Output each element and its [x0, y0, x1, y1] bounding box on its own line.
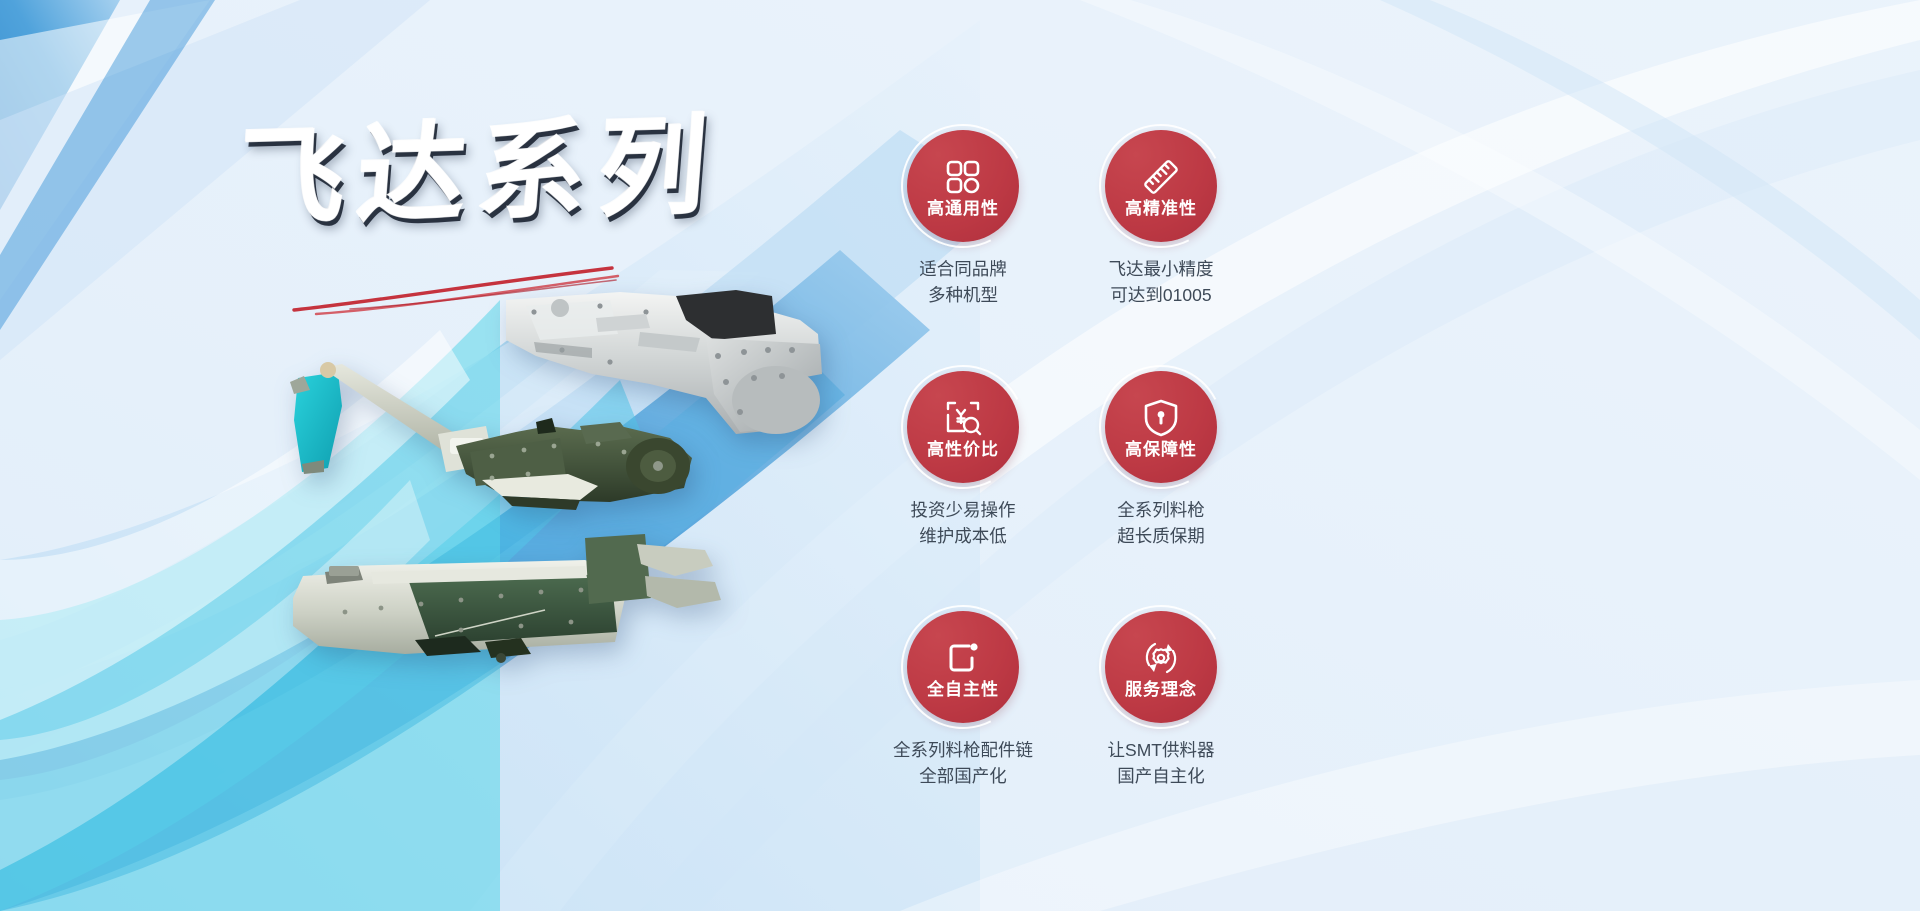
feature-badge[interactable]: 高通用性 — [907, 130, 1019, 242]
feature-caption-line2: 维护成本低 — [911, 523, 1016, 549]
swoosh-topleft-1 — [0, 0, 120, 210]
feature-caption-line2: 超长质保期 — [1117, 523, 1205, 549]
feature-caption: 全系列料枪配件链 全部国产化 — [893, 737, 1033, 790]
feature-caption-line1: 适合同品牌 — [919, 256, 1007, 282]
feature-caption: 适合同品牌 多种机型 — [919, 256, 1007, 309]
feature-caption: 让SMT供料器 国产自主化 — [1108, 737, 1215, 790]
feature-badge[interactable]: 高保障性 — [1105, 371, 1217, 483]
shield-lock-icon — [1141, 398, 1181, 438]
gear-refresh-icon — [1141, 638, 1181, 678]
feature-badge-label: 高通用性 — [927, 200, 999, 219]
feature-item-service[interactable]: 服务理念 让SMT供料器 国产自主化 — [1070, 611, 1252, 790]
feature-item-autonomy[interactable]: 全自主性 全系列料枪配件链 全部国产化 — [872, 611, 1054, 790]
feature-caption-line2: 多种机型 — [919, 282, 1007, 308]
feature-caption-line1: 飞达最小精度 — [1109, 256, 1214, 282]
feature-badge-label: 高性价比 — [927, 441, 999, 460]
product-photo-feeder-green — [280, 360, 700, 520]
feature-caption-line2: 国产自主化 — [1108, 763, 1215, 789]
feature-badge[interactable]: 服务理念 — [1105, 611, 1217, 723]
feature-caption-line2: 全部国产化 — [893, 763, 1033, 789]
feature-caption: 飞达最小精度 可达到01005 — [1109, 256, 1214, 309]
yen-search-icon — [943, 398, 983, 438]
grid-four-icon — [943, 157, 983, 197]
feeder-green-icon — [280, 360, 700, 520]
feature-badge-label: 高精准性 — [1125, 200, 1197, 219]
feature-caption-line1: 投资少易操作 — [911, 497, 1016, 523]
feature-caption-line1: 全系列料枪 — [1117, 497, 1205, 523]
feature-caption-line1: 全系列料枪配件链 — [893, 737, 1033, 763]
promo-banner: 飞达系列 — [0, 0, 1920, 911]
feature-badge-label: 高保障性 — [1125, 441, 1197, 460]
feature-badge[interactable]: 全自主性 — [907, 611, 1019, 723]
feature-item-warranty[interactable]: 高保障性 全系列料枪 超长质保期 — [1070, 371, 1252, 550]
feature-caption: 全系列料枪 超长质保期 — [1117, 497, 1205, 550]
product-photo-feeder-long — [285, 520, 725, 670]
feature-item-precision[interactable]: 高精准性 飞达最小精度 可达到01005 — [1070, 130, 1252, 309]
feature-badge-label: 全自主性 — [927, 681, 999, 700]
feature-caption-line2: 可达到01005 — [1109, 282, 1214, 308]
feature-badge[interactable]: 高性价比 — [907, 371, 1019, 483]
feature-caption-line1: 让SMT供料器 — [1108, 737, 1215, 763]
feature-caption: 投资少易操作 维护成本低 — [911, 497, 1016, 550]
feeder-long-icon — [285, 520, 725, 670]
feature-item-value[interactable]: 高性价比 投资少易操作 维护成本低 — [872, 371, 1054, 550]
feature-badge[interactable]: 高精准性 — [1105, 130, 1217, 242]
feature-badge-label: 服务理念 — [1125, 681, 1197, 700]
feature-item-versatility[interactable]: 高通用性 适合同品牌 多种机型 — [872, 130, 1054, 309]
bracket-dot-icon — [943, 638, 983, 678]
page-title: 飞达系列 — [233, 111, 763, 233]
ruler-icon — [1141, 157, 1181, 197]
feature-grid: 高通用性 适合同品牌 多种机型 高精准性 — [872, 130, 1252, 690]
